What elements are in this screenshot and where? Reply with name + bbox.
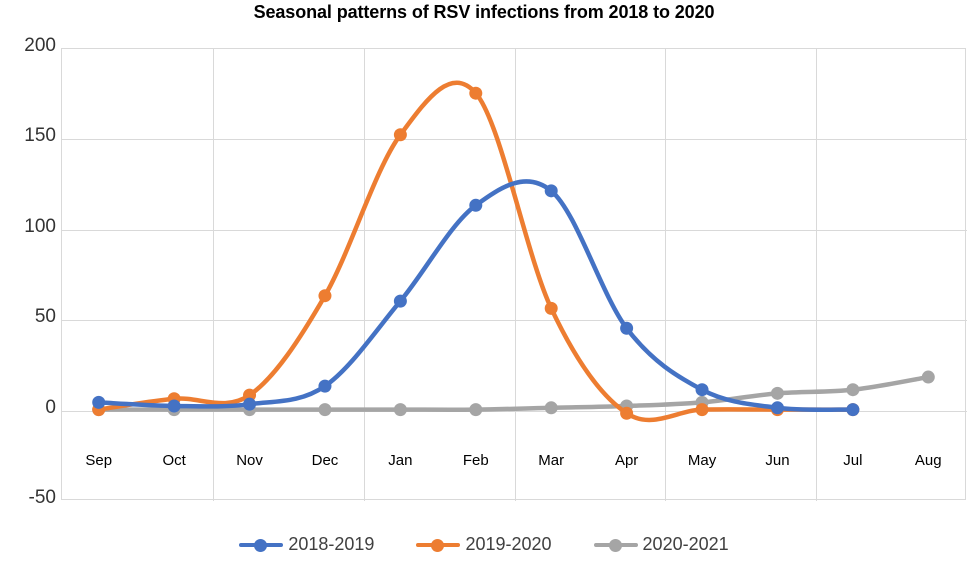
legend-item-2018-2019[interactable]: 2018-2019 xyxy=(239,534,374,555)
legend-label: 2019-2020 xyxy=(465,534,551,555)
x-axis-tick-label: Dec xyxy=(293,452,357,469)
chart-container: Seasonal patterns of RSV infections from… xyxy=(0,0,968,569)
legend-item-2020-2021[interactable]: 2020-2021 xyxy=(594,534,729,555)
x-axis-tick-label: Jul xyxy=(821,452,885,469)
legend-item-2019-2020[interactable]: 2019-2020 xyxy=(416,534,551,555)
x-axis: SepOctNovDecJanFebMarAprMayJunJulAug xyxy=(0,0,968,569)
legend-dot xyxy=(254,539,267,552)
legend-marker-icon xyxy=(594,538,638,552)
legend-marker-icon xyxy=(239,538,283,552)
x-axis-tick-label: Aug xyxy=(896,452,960,469)
legend-label: 2020-2021 xyxy=(643,534,729,555)
x-axis-tick-label: Jun xyxy=(745,452,809,469)
legend-label: 2018-2019 xyxy=(288,534,374,555)
x-axis-tick-label: Apr xyxy=(595,452,659,469)
legend-dot xyxy=(431,539,444,552)
x-axis-tick-label: Oct xyxy=(142,452,206,469)
x-axis-tick-label: Feb xyxy=(444,452,508,469)
x-axis-tick-label: Jan xyxy=(368,452,432,469)
x-axis-tick-label: Sep xyxy=(67,452,131,469)
legend-marker-icon xyxy=(416,538,460,552)
legend-dot xyxy=(609,539,622,552)
x-axis-tick-label: Nov xyxy=(218,452,282,469)
x-axis-tick-label: May xyxy=(670,452,734,469)
chart-legend: 2018-20192019-20202020-2021 xyxy=(0,534,968,555)
x-axis-tick-label: Mar xyxy=(519,452,583,469)
